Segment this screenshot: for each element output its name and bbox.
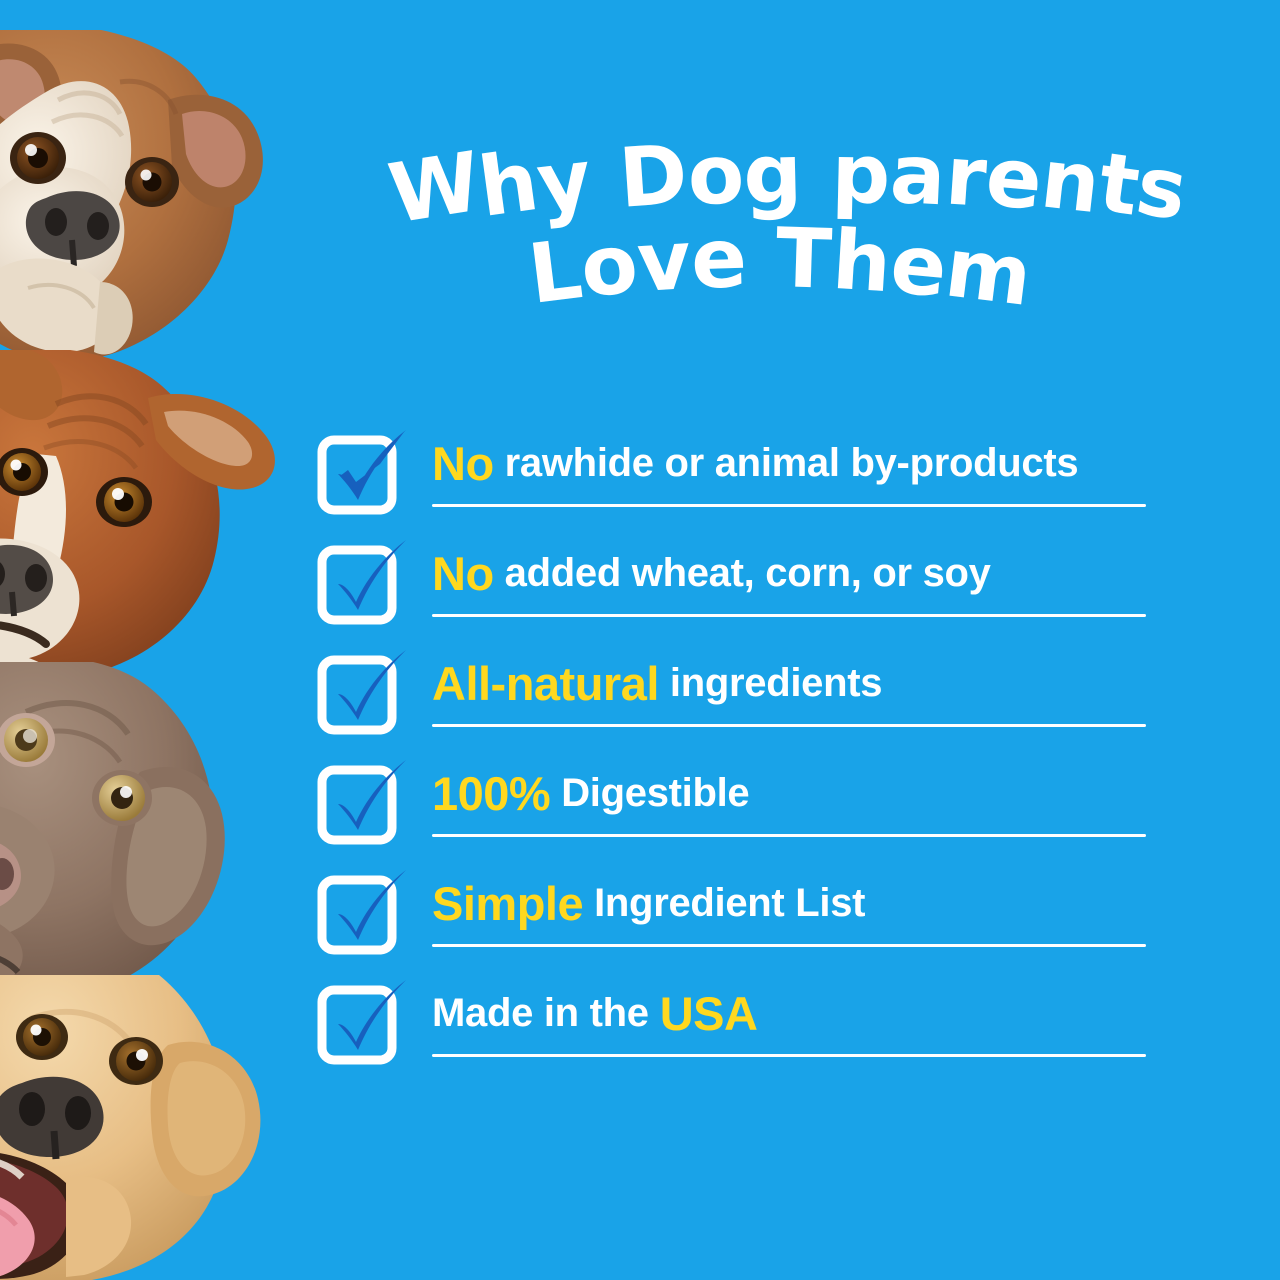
infographic-canvas: Why Dog parents Love Them No rawhide or … <box>0 0 1280 1280</box>
yellow-labrador-photo <box>0 975 292 1280</box>
english-bulldog-photo <box>0 30 292 370</box>
checkbox-checked-icon[interactable] <box>318 430 410 516</box>
title-char: p <box>830 134 890 217</box>
title-char: g <box>743 134 803 217</box>
title-line-1: Why Dog parents <box>316 138 1260 220</box>
checklist-row: 100% Digestible <box>318 758 1158 868</box>
pit-bull-terrier-photo <box>0 350 292 680</box>
rest-text: Made in the <box>432 993 649 1033</box>
benefits-checklist: No rawhide or animal by-products No adde… <box>318 428 1158 1088</box>
checkbox-checked-icon[interactable] <box>318 870 410 956</box>
rest-text: Digestible <box>561 773 749 813</box>
title-char: e <box>982 136 1044 223</box>
title-char: m <box>941 227 1035 319</box>
rest-text: Ingredient List <box>594 883 865 923</box>
rest-text: rawhide or animal by-products <box>505 443 1079 483</box>
highlight-word: All-natural <box>432 660 659 707</box>
title-char: r <box>943 135 988 220</box>
rest-text: ingredients <box>670 663 882 703</box>
checklist-row-text: Made in the USA <box>432 978 757 1048</box>
checklist-row-text: Simple Ingredient List <box>432 868 865 938</box>
checklist-row-text: 100% Digestible <box>432 758 749 828</box>
highlight-word: 100% <box>432 770 550 817</box>
row-underline <box>432 1054 1146 1057</box>
highlight-word: No <box>432 550 494 597</box>
title-char: v <box>635 220 693 305</box>
checklist-row: All-natural ingredients <box>318 648 1158 758</box>
title-char: a <box>888 134 946 218</box>
title-char: n <box>1037 138 1104 226</box>
title-char: L <box>525 229 586 317</box>
row-underline <box>432 724 1146 727</box>
title-char: o <box>578 224 641 311</box>
checklist-row: Made in the USA <box>318 978 1158 1088</box>
title-char: T <box>775 218 833 302</box>
title-char: h <box>474 141 542 230</box>
title-char: h <box>830 220 893 305</box>
title-char: e <box>690 218 748 302</box>
rest-text: added wheat, corn, or soy <box>505 553 991 593</box>
highlight-word: Simple <box>432 880 583 927</box>
row-underline <box>432 504 1146 507</box>
checkbox-checked-icon[interactable] <box>318 980 410 1066</box>
checklist-row: Simple Ingredient List <box>318 868 1158 978</box>
page-title: Why Dog parents Love Them <box>300 138 1260 358</box>
row-underline <box>432 614 1146 617</box>
checklist-row: No rawhide or animal by-products <box>318 428 1158 538</box>
title-char: y <box>533 139 595 226</box>
title-char: e <box>887 224 949 311</box>
checkbox-checked-icon[interactable] <box>318 540 410 626</box>
checkbox-checked-icon[interactable] <box>318 650 410 736</box>
highlight-word: USA <box>660 990 758 1037</box>
checkbox-checked-icon[interactable] <box>318 760 410 846</box>
row-underline <box>432 834 1146 837</box>
checklist-row-text: All-natural ingredients <box>432 648 882 718</box>
weimaraner-photo <box>0 662 292 1002</box>
dog-photo-strip <box>0 0 292 1280</box>
title-char: D <box>617 134 690 220</box>
title-char: W <box>384 142 486 237</box>
title-char <box>747 218 775 300</box>
title-char <box>803 134 831 216</box>
checklist-row: No added wheat, corn, or soy <box>318 538 1158 648</box>
checklist-row-text: No rawhide or animal by-products <box>432 428 1078 498</box>
highlight-word: No <box>432 440 494 487</box>
title-char: o <box>686 134 745 218</box>
checklist-row-text: No added wheat, corn, or soy <box>432 538 991 608</box>
row-underline <box>432 944 1146 947</box>
